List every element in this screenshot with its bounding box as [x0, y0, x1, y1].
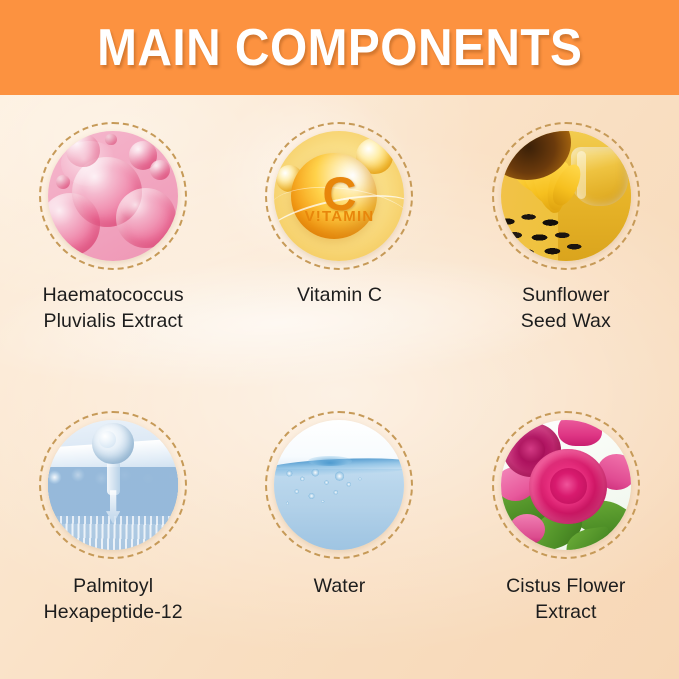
component-thumbnail	[501, 420, 631, 550]
components-grid: Haematococcus Pluvialis Extract C V!TAMI…	[0, 95, 679, 679]
component-label: Sunflower Seed Wax	[471, 283, 661, 335]
dashed-ring	[39, 411, 187, 559]
component-label: Haematococcus Pluvialis Extract	[18, 283, 208, 335]
component-label-line-2: Extract	[471, 600, 661, 626]
pink-rose-flower-icon	[501, 420, 631, 550]
component-card-vitamin-c[interactable]: C V!TAMIN Vitamin C	[226, 95, 452, 387]
component-card-sunflower-seed-wax[interactable]: Sunflower Seed Wax	[453, 95, 679, 387]
page-title: MAIN COMPONENTS	[97, 22, 582, 74]
skin-penetration-molecule-icon	[48, 420, 178, 550]
component-label: Palmitoyl Hexapeptide-12	[18, 574, 208, 626]
vitamin-word: V!TAMIN	[274, 209, 404, 224]
dashed-ring	[265, 411, 413, 559]
infographic-page: MAIN COMPONENTS Haematococcus Pluvialis …	[0, 0, 679, 679]
component-thumbnail: C V!TAMIN	[274, 131, 404, 261]
component-thumbnail	[501, 131, 631, 261]
component-label-line-2: Hexapeptide-12	[18, 600, 208, 626]
component-thumbnail	[48, 131, 178, 261]
component-label-line-1: Sunflower	[471, 283, 661, 309]
component-label-line-1: Water	[244, 574, 434, 600]
pink-bubbles-icon	[48, 131, 178, 261]
water-surface-bubbles-icon	[274, 420, 404, 550]
component-card-cistus-flower-extract[interactable]: Cistus Flower Extract	[453, 387, 679, 679]
dashed-ring	[492, 411, 640, 559]
component-label: Vitamin C	[244, 283, 434, 309]
dashed-ring	[39, 122, 187, 270]
component-label-line-1: Vitamin C	[244, 283, 434, 309]
component-label-line-2: Pluvialis Extract	[18, 309, 208, 335]
component-card-haematococcus-pluvialis-extract[interactable]: Haematococcus Pluvialis Extract	[0, 95, 226, 387]
component-label: Cistus Flower Extract	[471, 574, 661, 626]
component-label-line-1: Haematococcus	[18, 283, 208, 309]
component-card-water[interactable]: Water	[226, 387, 452, 679]
sunflower-seeds-oil-icon	[501, 131, 631, 261]
component-thumbnail	[274, 420, 404, 550]
header-banner: MAIN COMPONENTS	[0, 0, 679, 95]
component-label: Water	[244, 574, 434, 600]
dashed-ring	[492, 122, 640, 270]
component-thumbnail	[48, 420, 178, 550]
component-label-line-1: Palmitoyl	[18, 574, 208, 600]
vitamin-c-droplet-icon: C V!TAMIN	[274, 131, 404, 261]
dashed-ring: C V!TAMIN	[265, 122, 413, 270]
component-label-line-1: Cistus Flower	[471, 574, 661, 600]
component-label-line-2: Seed Wax	[471, 309, 661, 335]
component-card-palmitoyl-hexapeptide-12[interactable]: Palmitoyl Hexapeptide-12	[0, 387, 226, 679]
